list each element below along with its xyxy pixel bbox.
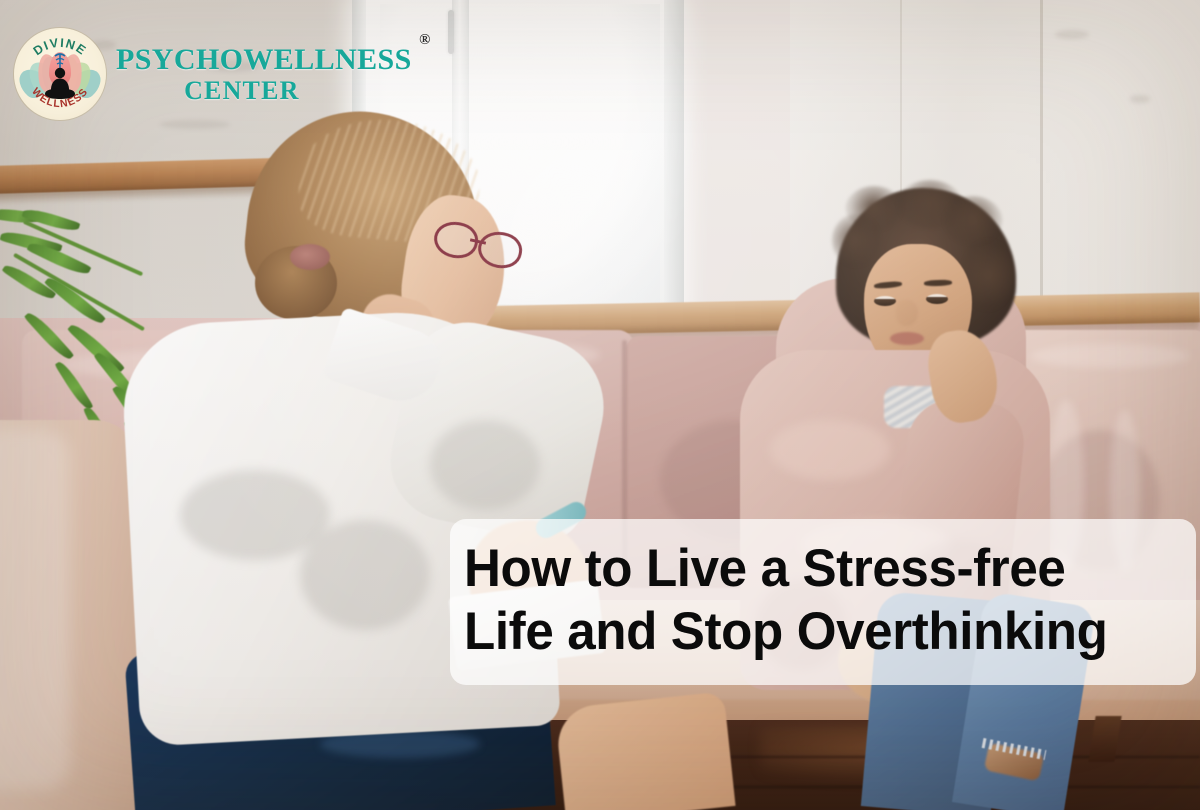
divine-wellness-emblem: DIVINE WELLNESS [14, 28, 106, 120]
hoodie-highlight [770, 420, 890, 480]
client-eye [926, 294, 948, 304]
article-title-line-2: Life and Stop Overthinking [464, 601, 1157, 664]
wordmark-primary-text: PSYCHOWELLNESS [116, 43, 412, 76]
client-hair-curl [944, 196, 1002, 244]
therapy-session-photo [0, 0, 1200, 810]
sofa-armrest-highlight [0, 430, 70, 790]
client-hair-curl [832, 214, 880, 266]
emblem-bottom-text: WELLNESS [29, 86, 90, 111]
wall-scuff [1130, 95, 1150, 103]
registered-trademark-icon: ® [419, 33, 431, 49]
article-title-panel: How to Live a Stress-free Life and Stop … [450, 519, 1196, 685]
article-title-line-1: How to Live a Stress-free [464, 538, 1157, 601]
wordmark-line-1: PSYCHOWELLNESS ® [116, 44, 412, 76]
emblem-arc-text: DIVINE WELLNESS [14, 28, 106, 120]
brand-logo[interactable]: DIVINE WELLNESS PSYCHOWELLNESS ® CENTER [14, 28, 412, 120]
svg-text:WELLNESS: WELLNESS [29, 86, 90, 111]
wall-seam [1040, 0, 1043, 340]
shirt-fold [430, 420, 540, 510]
wordmark-line-2: CENTER [116, 77, 412, 105]
wall-scuff [1055, 30, 1089, 39]
shirt-fold [180, 470, 330, 560]
brand-wordmark: PSYCHOWELLNESS ® CENTER [116, 44, 412, 104]
client-lips [890, 332, 924, 345]
therapist-leg [554, 691, 735, 810]
client-eye [874, 296, 896, 306]
svg-text:DIVINE: DIVINE [31, 36, 90, 58]
blog-banner: DIVINE WELLNESS PSYCHOWELLNESS ® CENTER … [0, 0, 1200, 810]
therapist-scrunchie [290, 244, 330, 270]
shirt-fold [300, 520, 430, 630]
emblem-top-text: DIVINE [31, 36, 90, 58]
cushion-highlight [1030, 344, 1190, 368]
wall-scuff [160, 120, 230, 129]
